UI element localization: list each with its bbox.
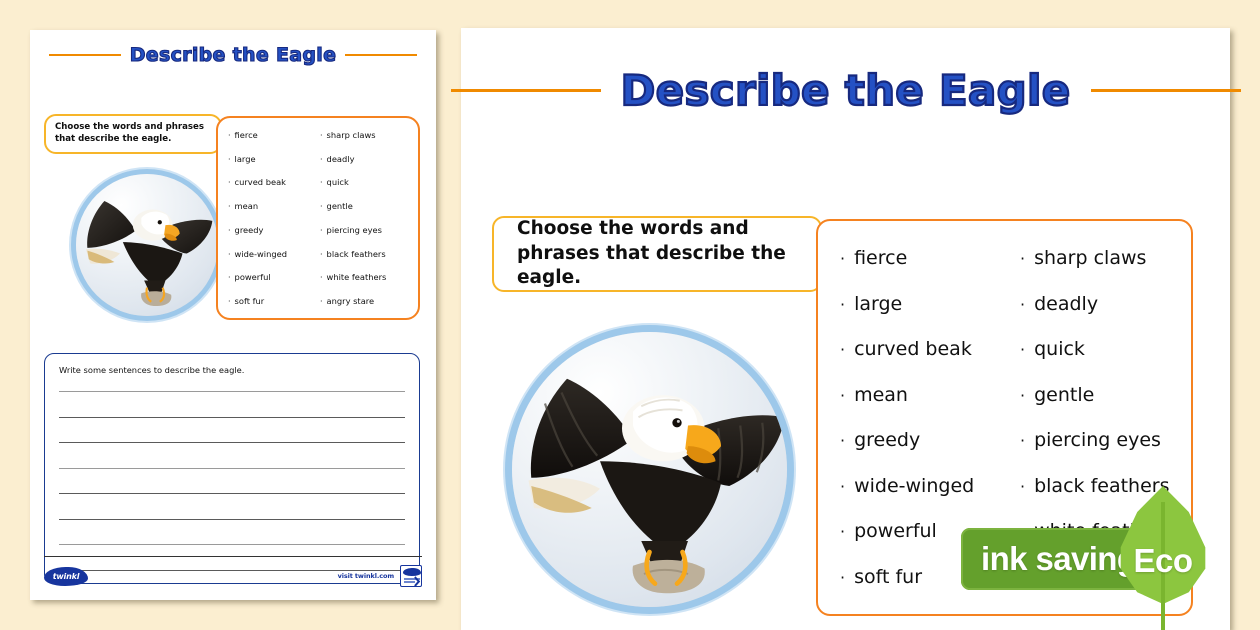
bullet-icon: · <box>320 297 323 306</box>
word-label: white feathers <box>327 272 387 282</box>
word-label: deadly <box>327 154 355 164</box>
bullet-icon: · <box>840 340 845 359</box>
word-bank-column-2: · sharp claws · deadly · quick · gentle <box>320 130 418 306</box>
writing-line[interactable] <box>59 544 405 545</box>
writing-line[interactable] <box>59 417 405 418</box>
twinkl-award-badge-icon <box>400 565 422 587</box>
word-item[interactable]: · greedy <box>228 225 320 235</box>
word-item[interactable]: · mean <box>228 201 320 211</box>
word-item[interactable]: · gentle <box>320 201 418 211</box>
writing-lines-box[interactable]: Write some sentences to describe the eag… <box>44 353 420 584</box>
word-label: greedy <box>854 429 920 451</box>
bullet-icon: · <box>320 250 323 259</box>
bullet-icon: · <box>1020 386 1025 405</box>
bullet-icon: · <box>1020 249 1025 268</box>
word-item[interactable]: · fierce <box>840 247 1020 269</box>
word-item[interactable]: · fierce <box>228 130 320 140</box>
word-label: black feathers <box>327 249 386 259</box>
word-item[interactable]: · mean <box>840 384 1020 406</box>
word-label: piercing eyes <box>327 225 382 235</box>
word-label: quick <box>1034 338 1085 360</box>
eagle-illustration <box>76 174 218 316</box>
word-item[interactable]: · deadly <box>1020 293 1190 315</box>
bullet-icon: · <box>320 273 323 282</box>
writing-line[interactable] <box>59 493 405 494</box>
bullet-icon: · <box>840 568 845 587</box>
bullet-icon: · <box>1020 295 1025 314</box>
bullet-icon: · <box>320 155 323 164</box>
bullet-icon: · <box>840 295 845 314</box>
writing-prompt: Write some sentences to describe the eag… <box>59 365 405 375</box>
word-label: mean <box>854 384 908 406</box>
bullet-icon: · <box>320 202 323 211</box>
word-label: soft fur <box>854 566 922 588</box>
bullet-icon: · <box>228 250 231 259</box>
bullet-icon: · <box>320 226 323 235</box>
word-item[interactable]: · wide-winged <box>840 475 1020 497</box>
bullet-icon: · <box>840 431 845 450</box>
word-item[interactable]: · piercing eyes <box>320 225 418 235</box>
word-label: fierce <box>854 247 907 269</box>
leaf-icon: Eco <box>1117 486 1209 604</box>
bullet-icon: · <box>840 386 845 405</box>
word-label: powerful <box>854 520 937 542</box>
word-item[interactable]: · white feathers <box>320 272 418 282</box>
word-item[interactable]: · deadly <box>320 154 418 164</box>
title-rule-right <box>345 54 417 56</box>
writing-line[interactable] <box>59 442 405 443</box>
bullet-icon: · <box>228 155 231 164</box>
bullet-icon: · <box>840 522 845 541</box>
bullet-icon: · <box>320 178 323 187</box>
word-label: angry stare <box>327 296 375 306</box>
page-title-row: Describe the Eagle <box>461 28 1230 115</box>
word-label: fierce <box>235 130 258 140</box>
twinkl-logo[interactable]: twinkl <box>44 567 88 586</box>
title-rule-left <box>451 89 601 92</box>
word-item[interactable]: · soft fur <box>228 296 320 306</box>
word-label: large <box>235 154 256 164</box>
ink-saving-label: ink saving <box>981 540 1136 578</box>
bullet-icon: · <box>320 131 323 140</box>
bullet-icon: · <box>228 202 231 211</box>
writing-line[interactable] <box>59 468 405 469</box>
bullet-icon: · <box>840 249 845 268</box>
title-rule-right <box>1091 89 1241 92</box>
word-item[interactable]: · gentle <box>1020 384 1190 406</box>
word-label: curved beak <box>854 338 972 360</box>
bullet-icon: · <box>228 131 231 140</box>
word-label: large <box>854 293 902 315</box>
footer-right-group: visit twinkl.com <box>338 565 422 587</box>
page-title: Describe the Eagle <box>121 44 346 66</box>
word-label: quick <box>327 177 349 187</box>
title-rule-left <box>49 54 121 56</box>
word-label: piercing eyes <box>1034 429 1161 451</box>
bullet-icon: · <box>228 226 231 235</box>
word-item[interactable]: · quick <box>320 177 418 187</box>
bullet-icon: · <box>840 477 845 496</box>
word-label: wide-winged <box>235 249 287 259</box>
writing-line[interactable] <box>59 391 405 392</box>
bullet-icon: · <box>1020 340 1025 359</box>
instruction-text: Choose the words and phrases that descri… <box>55 122 220 145</box>
word-label: sharp claws <box>327 130 376 140</box>
word-label: wide-winged <box>854 475 974 497</box>
word-item[interactable]: · large <box>228 154 320 164</box>
twinkl-logo-text: twinkl <box>53 572 80 581</box>
word-label: mean <box>235 201 259 211</box>
page-title-row: Describe the Eagle <box>30 30 436 66</box>
word-item[interactable]: · wide-winged <box>228 249 320 259</box>
bullet-icon: · <box>228 297 231 306</box>
word-item[interactable]: · curved beak <box>228 177 320 187</box>
bullet-icon: · <box>1020 431 1025 450</box>
screenshot-stage: Describe the Eagle Choose the words and … <box>0 0 1260 630</box>
word-label: powerful <box>235 272 271 282</box>
bullet-icon: · <box>1020 477 1025 496</box>
word-label: sharp claws <box>1034 247 1146 269</box>
word-label: curved beak <box>235 177 286 187</box>
word-item[interactable]: · black feathers <box>320 249 418 259</box>
badge-cloud-shape <box>403 568 421 576</box>
word-label: greedy <box>235 225 264 235</box>
word-bank-column-1: · fierce · large · curved beak · mean <box>228 130 320 306</box>
word-label: deadly <box>1034 293 1098 315</box>
page-footer: twinkl visit twinkl.com <box>44 556 422 590</box>
writing-line[interactable] <box>59 519 405 520</box>
word-item[interactable]: · sharp claws <box>1020 247 1190 269</box>
bullet-icon: · <box>228 178 231 187</box>
eagle-photo-circle <box>512 332 787 607</box>
word-item[interactable]: · quick <box>1020 338 1190 360</box>
word-bank-box[interactable]: · fierce · large · curved beak · mean <box>216 116 420 320</box>
page-title: Describe the Eagle <box>601 66 1091 115</box>
visit-link[interactable]: visit twinkl.com <box>338 572 394 580</box>
word-label: gentle <box>1034 384 1094 406</box>
worksheet-thumbnail-page[interactable]: Describe the Eagle Choose the words and … <box>30 30 436 600</box>
word-item[interactable]: · powerful <box>228 272 320 282</box>
word-item[interactable]: · large <box>840 293 1020 315</box>
word-item[interactable]: · curved beak <box>840 338 1020 360</box>
instruction-box: Choose the words and phrases that descri… <box>44 114 222 154</box>
instruction-text: Choose the words and phrases that descri… <box>517 217 820 292</box>
eagle-illustration <box>512 332 787 607</box>
instruction-box: Choose the words and phrases that descri… <box>492 216 822 292</box>
word-item[interactable]: · piercing eyes <box>1020 429 1190 451</box>
ink-saving-eco-badge: ink saving Eco <box>961 528 1209 590</box>
word-item[interactable]: · sharp claws <box>320 130 418 140</box>
word-item[interactable]: · angry stare <box>320 296 418 306</box>
word-label: soft fur <box>235 296 265 306</box>
bullet-icon: · <box>228 273 231 282</box>
eagle-photo-circle <box>76 174 218 316</box>
word-item[interactable]: · greedy <box>840 429 1020 451</box>
word-label: gentle <box>327 201 353 211</box>
eco-label: Eco <box>1117 542 1209 580</box>
